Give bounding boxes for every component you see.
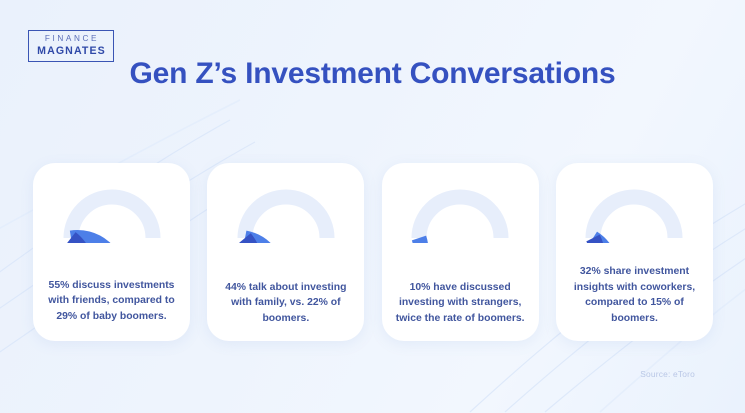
gauge-segment-genz-strangers: [419, 238, 421, 243]
gauge-friends: [56, 181, 168, 243]
gauge-caption-strangers: 10% have discussed investing with strang…: [382, 280, 539, 327]
gauge-family: [230, 181, 342, 243]
gauge-card-friends: 55% discuss investments with friends, co…: [33, 163, 190, 341]
logo-line-finance: FINANCE: [43, 35, 99, 43]
gauge-track-family: [245, 197, 327, 238]
gauge-segment-boomer-family: [245, 238, 254, 243]
gauge-card-family: 44% talk about investing with family, vs…: [207, 163, 364, 341]
gauge-strangers: [404, 181, 516, 243]
infographic-canvas: FINANCE MAGNATES Gen Z’s Investment Conv…: [0, 0, 745, 413]
gauge-track-strangers: [419, 197, 501, 238]
gauge-segment-boomer-coworkers: [593, 238, 597, 243]
gauge-caption-family: 44% talk about investing with family, vs…: [207, 280, 364, 327]
gauge-caption-friends: 55% discuss investments with friends, co…: [33, 278, 190, 325]
source-attribution: Source: eToro: [640, 369, 695, 379]
page-title: Gen Z’s Investment Conversations: [0, 55, 745, 93]
gauge-card-list: 55% discuss investments with friends, co…: [33, 163, 713, 341]
gauge-caption-coworkers: 32% share investment insights with cowor…: [556, 264, 713, 327]
gauge-coworkers: [578, 181, 690, 243]
gauge-card-strangers: 10% have discussed investing with strang…: [382, 163, 539, 341]
gauge-track-coworkers: [593, 197, 675, 238]
gauge-card-coworkers: 32% share investment insights with cowor…: [556, 163, 713, 341]
